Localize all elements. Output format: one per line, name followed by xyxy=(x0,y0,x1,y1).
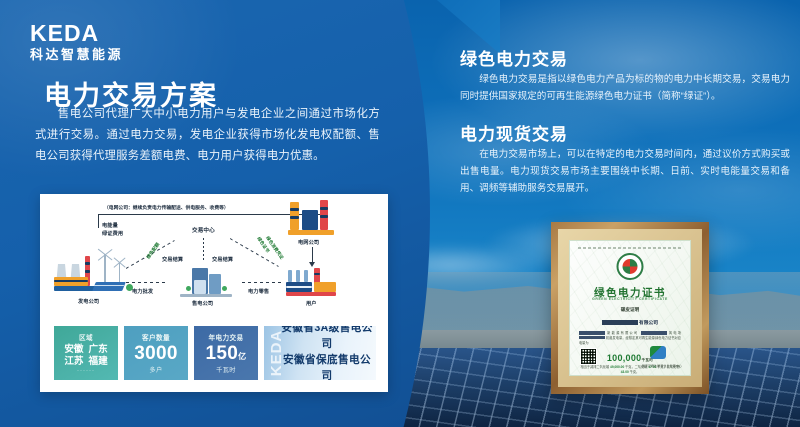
diagram-top-tick-left xyxy=(98,214,99,228)
diagram-node-user: 用户 xyxy=(306,300,317,307)
diagram-node-generation: 发电公司 xyxy=(78,298,99,305)
certificate-inner-frame: 绿色电力证书 GREEN ELECTRICITY CERTIFICATE 碳皮证… xyxy=(558,229,702,387)
section-heading-green-power: 绿色电力交易 xyxy=(460,45,568,70)
stat-customers-value: 3000 xyxy=(134,344,177,363)
diagram-green-fee-label: 绿证费用 xyxy=(102,230,123,237)
emission-prefix: 相当于减排二氧化碳 xyxy=(580,365,609,369)
stat-customers: 客户数量 3000 多户 xyxy=(124,326,188,380)
diagram-energy-label: 电能量 xyxy=(102,222,118,229)
emission-end: 千克。 xyxy=(630,370,640,374)
certificate-title-en: GREEN ELECTRICITY CERTIFICATE xyxy=(570,297,690,301)
diagram-settle-right: 交易结算 xyxy=(212,256,233,263)
certificate-body-text: 新能源有限公司 风电场 机组发电量，经核定其可再生能源绿色电力证书对应电量为 xyxy=(579,331,681,346)
banner-line: 安徽省保底售电公司 xyxy=(278,353,376,380)
stat-annual-value: 150 xyxy=(206,343,239,364)
stat-annual-value-wrap: 150亿 xyxy=(206,344,247,363)
left-paragraph: 售电公司代理广大中小电力用户与发电企业之间通过市场化方式进行交易。通过电力交易，… xyxy=(35,104,380,167)
region-item: 福建 xyxy=(89,356,108,368)
certificate-paper: 绿色电力证书 GREEN ELECTRICITY CERTIFICATE 碳皮证… xyxy=(569,240,691,376)
stat-annual-unit: 亿 xyxy=(238,352,246,361)
qualification-banner: KEDA 安徽省3A级售电公司 安徽省保底售电公司 xyxy=(264,326,376,380)
certificate-logo-icon xyxy=(650,346,666,359)
certificate-amount-value: 100,000 xyxy=(607,353,642,363)
region-item: 江苏 xyxy=(64,356,83,368)
diagram-node-grid: 电网公司 xyxy=(298,239,319,246)
section-paragraph-spot-trading: 在电力交易市场上，可以在特定的电力交易时间内，通过议价方式购买或出售电量。电力现… xyxy=(460,147,790,197)
certificate-company: 有限公司 xyxy=(570,319,690,326)
region-item: 广东 xyxy=(89,344,108,356)
diagram-top-note: （电网公司：继续负责电力传输配送、供电服务、收费等） xyxy=(104,204,229,211)
diagram-settle-left: 交易结算 xyxy=(162,256,183,263)
stat-annual-trading: 年电力交易 150亿 千瓦时 xyxy=(194,326,258,380)
section-heading-spot-trading: 电力现货交易 xyxy=(460,120,568,145)
user-factory-icon xyxy=(286,268,346,298)
green-certificate-photo: 绿色电力证书 GREEN ELECTRICITY CERTIFICATE 碳皮证… xyxy=(551,222,709,394)
region-item: 安徽 xyxy=(64,344,83,356)
section-paragraph-green-power: 绿色电力交易是指以绿色电力产品为标的物的电力中长期交易，交易电力同时提供国家规定… xyxy=(460,72,790,106)
banner-watermark: KEDA xyxy=(268,330,285,377)
stat-customers-caption: 客户数量 xyxy=(142,332,170,342)
certificate-subtitle: 碳皮证明 xyxy=(570,307,690,313)
poster-canvas: KEDA 科达智慧能源 电力交易方案 售电公司代理广大中小电力用户与发电企业之间… xyxy=(0,0,800,427)
logo-company-name: 科达智慧能源 xyxy=(30,48,123,61)
diagram-settle-dashed xyxy=(203,238,204,262)
retail-company-icon xyxy=(180,268,236,298)
stat-region-caption: 区域 xyxy=(79,332,93,342)
certificate-frame: 绿色电力证书 GREEN ELECTRICITY CERTIFICATE 碳皮证… xyxy=(551,222,709,394)
grid-company-icon xyxy=(288,200,344,236)
diagram-card: （电网公司：继续负责电力传输配送、供电服务、收费等） 电能量 绿证费用 xyxy=(40,194,388,392)
banner-line: 安徽省3A级售电公司 xyxy=(278,326,376,353)
diagram-arrow-wholesale xyxy=(126,282,168,283)
brand-logo: KEDA 科达智慧能源 xyxy=(30,22,123,61)
certificate-company-suffix: 有限公司 xyxy=(639,321,658,326)
logo-mark: KEDA xyxy=(30,22,123,45)
emission-nox: 43.00 xyxy=(621,370,629,374)
diagram-green-quota-label: 绿色配额 xyxy=(146,242,162,261)
banner-lines: 安徽省3A级售电公司 安徽省保底售电公司 xyxy=(278,326,376,380)
stat-region-more: ······ xyxy=(77,368,95,374)
certificate-seal-icon xyxy=(617,253,644,280)
diagram-arrow-grid-user xyxy=(312,247,313,263)
qr-code-icon xyxy=(580,348,597,365)
stat-annual-caption: 年电力交易 xyxy=(209,332,244,342)
emission-co2: 49,000.00 xyxy=(610,365,624,369)
certificate-header-code xyxy=(578,247,682,249)
stat-region-values: 安徽 广东 江苏 福建 xyxy=(64,344,107,368)
diagram-flow-retail: 电力零售 xyxy=(248,288,269,295)
diagram-node-retail: 售电公司 xyxy=(192,300,213,307)
diagram-arrow-retail xyxy=(242,282,284,283)
stat-customers-sub: 多户 xyxy=(149,365,162,374)
stat-annual-sub: 千瓦时 xyxy=(216,365,236,374)
diagram-center-title: 交易中心 xyxy=(192,226,215,234)
trading-flow-diagram: （电网公司：继续负责电力传输配送、供电服务、收费等） 电能量 绿证费用 xyxy=(40,194,388,322)
diagram-arrowhead-down xyxy=(309,262,315,267)
diagram-flow-wholesale: 电力批发 xyxy=(132,288,153,295)
stat-region: 区域 安徽 广东 江苏 福建 ······ xyxy=(54,326,118,380)
stats-row: 区域 安徽 广东 江苏 福建 ······ 客户数量 3000 多户 年电力交易… xyxy=(54,326,376,380)
certificate-issuer: 国家可再生能源信息管理中心 xyxy=(642,364,682,368)
